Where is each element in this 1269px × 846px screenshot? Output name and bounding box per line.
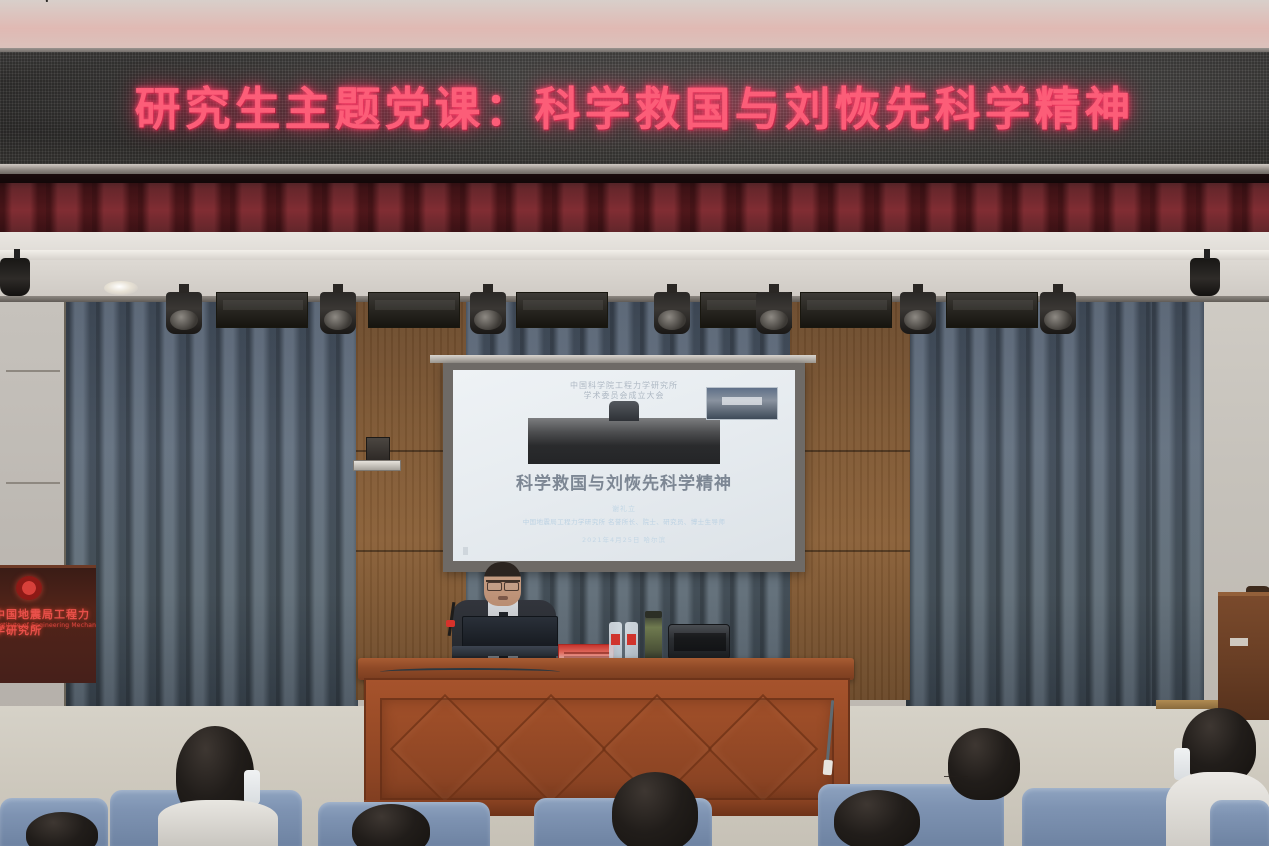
ceiling-light-fixture <box>800 292 892 328</box>
ceiling-light-fixture <box>516 292 608 328</box>
laptop-screen <box>462 616 558 648</box>
audience-member <box>612 772 698 846</box>
projection-screen-rail <box>430 355 816 363</box>
par-light <box>320 292 356 334</box>
table-diamond-motif <box>708 694 818 804</box>
ceiling-downlight <box>104 281 138 295</box>
stage-curtain-left <box>66 300 358 720</box>
led-banner-panel: 研究生主题党课：科学救国与刘恢先科学精神 <box>0 52 1269 164</box>
audience-seat <box>1210 800 1269 846</box>
slide-title: 科学救国与刘恢先科学精神 <box>453 469 795 494</box>
water-bottle <box>625 622 638 660</box>
par-light <box>756 292 792 334</box>
face-mask <box>244 770 260 804</box>
par-light <box>900 292 936 334</box>
audience-shoulders <box>158 800 278 846</box>
water-bottle <box>609 622 622 660</box>
par-light <box>1040 292 1076 334</box>
speaker-podium: 中国地震局工程力学研究所 Institute of Engineering Me… <box>0 565 96 683</box>
slide-header-line2: 学术委员会成立大会 <box>570 391 678 401</box>
audience-member <box>948 728 1020 800</box>
par-light <box>470 292 506 334</box>
audience-member <box>834 790 920 846</box>
table-cable <box>380 668 560 676</box>
red-valance-curtain <box>0 174 1269 240</box>
projection-screen: 中国科学院工程力学研究所 学术委员会成立大会 科学救国与刘恢先科学精神 谢礼立 … <box>443 363 805 572</box>
slide-header-line1: 中国科学院工程力学研究所 <box>570 381 678 391</box>
laptop-keyboard <box>452 646 564 656</box>
slide-date-location: 2021年4月25日 哈尔滨 <box>453 534 795 544</box>
equipment-box <box>668 624 730 660</box>
slide-author: 谢礼立 <box>453 504 795 514</box>
wall-camera-icon <box>366 437 390 463</box>
ceiling-light-fixture <box>216 292 308 328</box>
stage-curtain-far-right <box>1152 300 1204 720</box>
table-panel-border <box>380 698 834 800</box>
institute-emblem-icon <box>16 576 42 600</box>
led-banner-shelf <box>0 164 1269 174</box>
soffit-step <box>0 250 1269 260</box>
slide-inset-photo <box>706 387 778 419</box>
slide-badge-icon <box>463 547 468 555</box>
par-light <box>166 292 202 334</box>
ceiling-spotlight <box>1190 258 1220 296</box>
presentation-slide: 中国科学院工程力学研究所 学术委员会成立大会 科学救国与刘恢先科学精神 谢礼立 … <box>453 370 795 561</box>
ceiling-light-fixture <box>946 292 1038 328</box>
lecture-hall-photo: 研究生主题党课：科学救国与刘恢先科学精神 中国科 <box>0 0 1269 846</box>
table-diamond-motif <box>496 694 606 804</box>
par-light <box>654 292 690 334</box>
led-banner-text: 研究生主题党课：科学救国与刘恢先科学精神 <box>135 73 1135 139</box>
side-desk <box>1218 592 1269 720</box>
presenter-mouth <box>498 596 508 600</box>
slide-header: 中国科学院工程力学研究所 学术委员会成立大会 <box>570 381 678 401</box>
ceiling-spotlight <box>0 258 30 296</box>
presenter-glasses-icon <box>486 580 520 587</box>
podium-organization-en: Institute of Engineering Mechanics, Chin… <box>0 622 96 629</box>
stage-curtain-right <box>906 300 1156 720</box>
ceiling <box>0 0 1269 52</box>
thermos-flask <box>645 616 662 661</box>
ceiling-light-fixture <box>368 292 460 328</box>
slide-affiliation: 中国地震局工程力学研究所 名誉所长、院士、研究员、博士生导师 <box>453 516 795 526</box>
conference-table-front <box>364 678 850 816</box>
slide-photo <box>528 418 720 464</box>
microphone-band <box>446 620 455 627</box>
table-diamond-motif <box>390 694 500 804</box>
audience-glasses-icon <box>944 776 968 780</box>
